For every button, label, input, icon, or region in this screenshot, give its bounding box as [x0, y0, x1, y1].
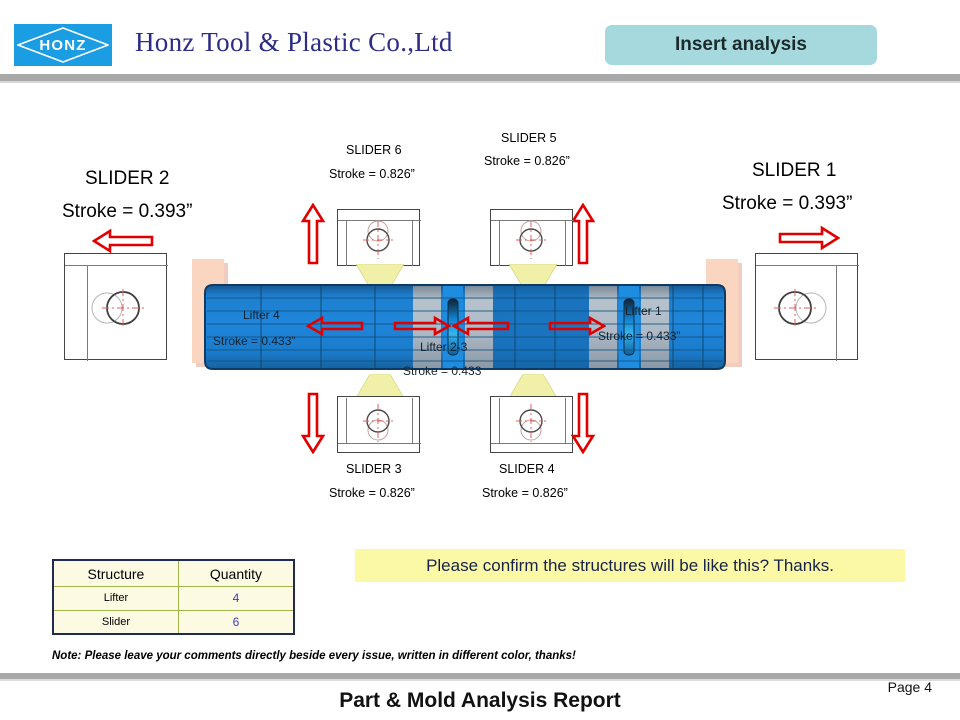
slider-5-label: SLIDER 5: [501, 131, 557, 145]
cell-structure-lifter: Lifter: [54, 587, 178, 611]
column-header-structure: Structure: [54, 561, 178, 587]
honz-diamond-logo: HONZ: [14, 24, 112, 66]
slider-5-stroke: Stroke = 0.826”: [484, 154, 570, 168]
lifter-1-right-arrow-icon: [548, 315, 606, 337]
lifter-23-stroke: Stroke = 0.433: [403, 364, 481, 378]
down-arrow-icon: [570, 392, 596, 454]
header-divider-light: [0, 81, 960, 83]
confirmation-callout: Please confirm the structures will be li…: [355, 549, 905, 582]
column-header-quantity: Quantity: [178, 561, 293, 587]
slider-3-stroke: Stroke = 0.826”: [329, 486, 415, 500]
slider-2-label: SLIDER 2: [85, 168, 169, 190]
cell-quantity-slider: 6: [178, 610, 293, 633]
down-arrow-icon: [300, 392, 326, 454]
left-arrow-icon: [92, 228, 154, 254]
header-divider: [0, 74, 960, 81]
lifter-4-label: Lifter 4: [243, 308, 280, 322]
report-title: Part & Mold Analysis Report: [0, 689, 960, 713]
page-header: HONZ Honz Tool & Plastic Co.,Ltd Insert …: [0, 0, 960, 80]
slider-4-label: SLIDER 4: [499, 462, 555, 476]
slider-4-stroke: Stroke = 0.826”: [482, 486, 568, 500]
structure-quantity-table: Structure Quantity Lifter 4 Slider 6: [52, 559, 295, 635]
lifter-23-left-arrow-icon: [452, 315, 510, 337]
slider-3-label: SLIDER 3: [346, 462, 402, 476]
cell-structure-slider: Slider: [54, 610, 178, 633]
mold-layout-diagram: SLIDER 2 Stroke = 0.393” SLIDER 1 Stroke…: [0, 86, 960, 526]
slider-2-crosshair-icon: [86, 286, 148, 330]
lifter-23-right-arrow-icon: [393, 315, 451, 337]
slider-6-stroke: Stroke = 0.826”: [329, 167, 415, 181]
logo-text: HONZ: [39, 37, 86, 54]
right-arrow-icon: [778, 225, 840, 251]
lifter-1-label: Lifter 1: [625, 304, 662, 318]
table-row: Slider 6: [54, 610, 293, 633]
slider-3-crosshair-icon: [355, 402, 401, 448]
footer-divider-light: [0, 679, 960, 681]
comment-instruction-note: Note: Please leave your comments directl…: [52, 650, 576, 662]
up-arrow-icon: [570, 203, 596, 265]
table-header-row: Structure Quantity: [54, 561, 293, 587]
slider-1-label: SLIDER 1: [752, 160, 836, 182]
company-title: Honz Tool & Plastic Co.,Ltd: [135, 27, 453, 58]
slider-6-crosshair-icon: [355, 215, 401, 261]
cell-quantity-lifter: 4: [178, 587, 293, 611]
slider-6-label: SLIDER 6: [346, 143, 402, 157]
lifter-23-label: Lifter 2-3: [420, 340, 467, 354]
insert-analysis-badge[interactable]: Insert analysis: [605, 25, 877, 65]
slider-5-crosshair-icon: [508, 215, 554, 261]
slider-4-connector: [505, 374, 561, 398]
slider-4-crosshair-icon: [508, 402, 554, 448]
slider-1-crosshair-icon: [770, 286, 832, 330]
lifter-4-left-arrow-icon: [306, 315, 364, 337]
lifter-1-stroke: Stroke = 0.433”: [598, 329, 680, 343]
slider-2-stroke: Stroke = 0.393”: [62, 201, 192, 223]
slider-3-connector: [352, 374, 408, 398]
lifter-4-stroke: Stroke = 0.433”: [213, 334, 295, 348]
up-arrow-icon: [300, 203, 326, 265]
slider-1-stroke: Stroke = 0.393”: [722, 193, 852, 215]
table-row: Lifter 4: [54, 587, 293, 611]
